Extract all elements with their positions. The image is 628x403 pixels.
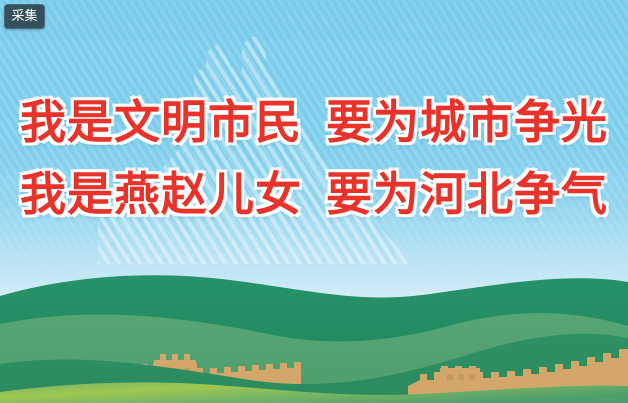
slogan-line-2: 我是燕赵儿女要为河北争气 [0, 158, 628, 230]
slogan-line-1-segment-a: 我是文明市民 [20, 95, 302, 149]
slogan-text-block: 我是文明市民要为城市争光 我是燕赵儿女要为河北争气 [0, 86, 628, 230]
civic-slogan-banner: 我是文明市民要为城市争光 我是燕赵儿女要为河北争气 [0, 0, 628, 403]
slogan-line-1: 我是文明市民要为城市争光 [0, 86, 628, 158]
slogan-line-2-segment-b: 要为河北争气 [326, 167, 608, 221]
slogan-line-2-segment-a: 我是燕赵儿女 [20, 167, 302, 221]
landscape-illustration [0, 268, 628, 403]
slogan-line-1-segment-b: 要为城市争光 [326, 95, 608, 149]
capture-button[interactable]: 采集 [4, 4, 45, 29]
